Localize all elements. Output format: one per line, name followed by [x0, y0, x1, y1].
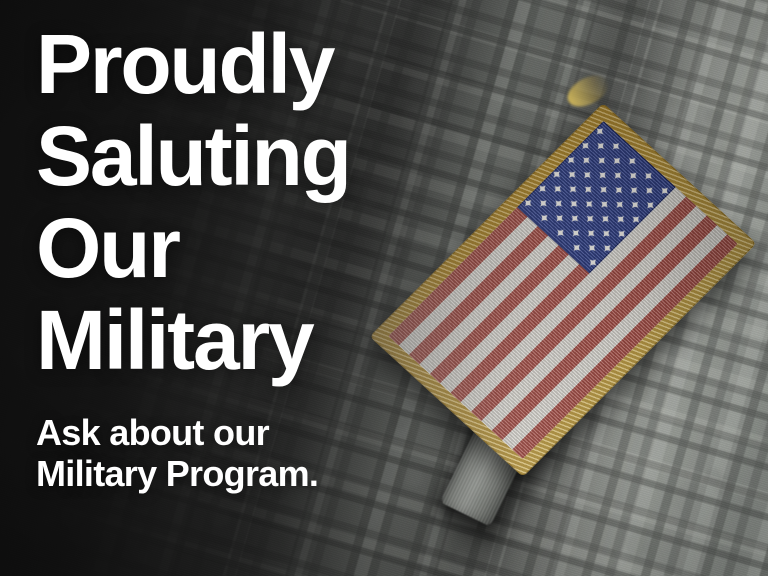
- headline: Proudly Saluting Our Military: [36, 18, 350, 386]
- banner-copy: Proudly Saluting Our Military Ask about …: [36, 18, 350, 494]
- military-promo-banner: ✦✦✦✦✦✦✦✦✦✦✦✦✦✦✦✦✦✦✦✦✦✦✦✦✦✦✦✦✦✦✦✦✦✦✦✦✦✦✦✦…: [0, 0, 768, 576]
- subheadline: Ask about our Military Program.: [36, 412, 350, 494]
